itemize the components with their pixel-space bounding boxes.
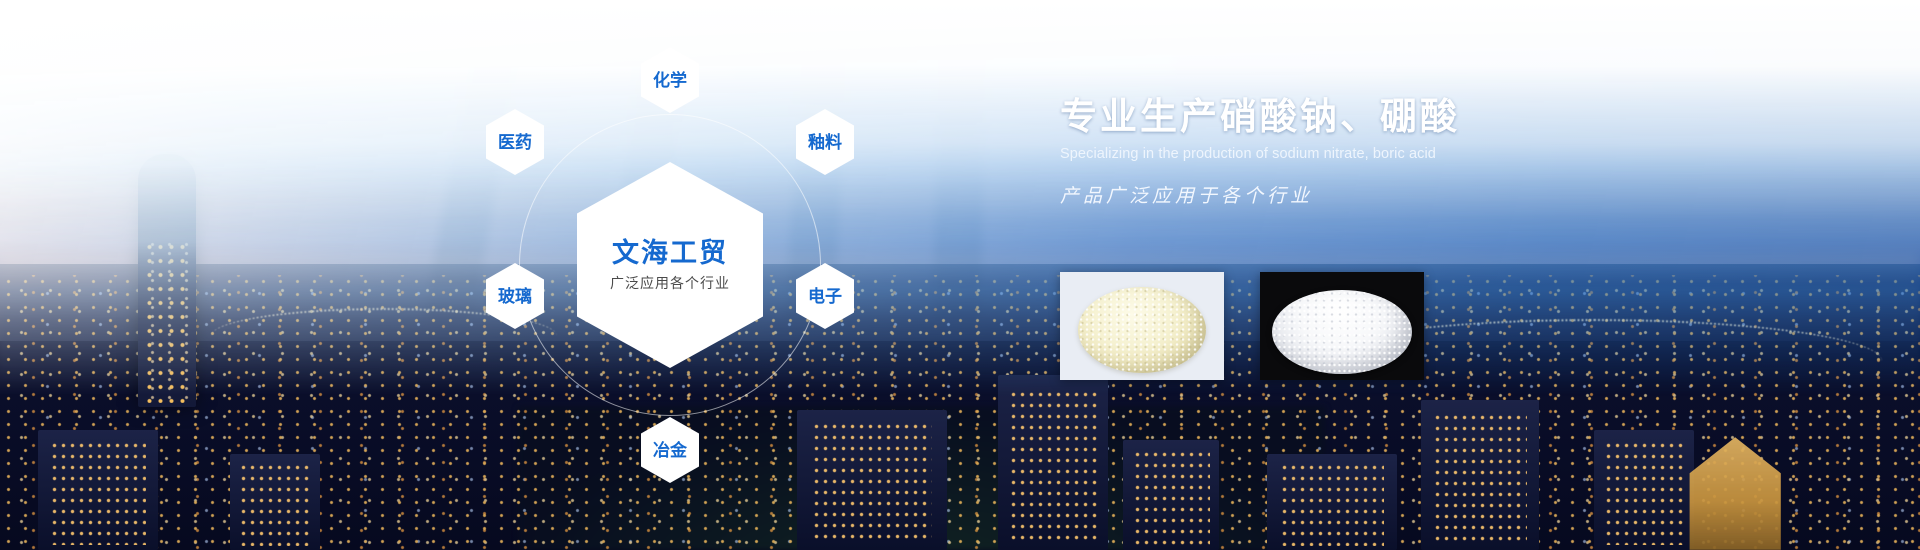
- brand-tagline: 广泛应用各个行业: [610, 276, 730, 290]
- hexagon-node-label: 玻璃: [498, 288, 532, 305]
- industry-hexagon-diagram: 文海工贸 广泛应用各个行业 化学 釉料 电子 冶金 玻璃 医药: [430, 25, 910, 505]
- product-photo-boric-acid: [1260, 272, 1424, 380]
- powder-grain-texture: [1078, 287, 1206, 373]
- hexagon-node-pharmaceutical[interactable]: 医药: [486, 109, 544, 175]
- powder-pile: [1272, 290, 1412, 374]
- hexagon-node-label: 化学: [653, 72, 687, 89]
- hexagon-node-chemistry[interactable]: 化学: [641, 47, 699, 113]
- powder-grain-texture: [1272, 290, 1412, 374]
- headline: 专业生产硝酸钠、硼酸: [1060, 96, 1580, 137]
- hexagon-node-label: 医药: [498, 134, 532, 151]
- hexagon-node-metallurgy[interactable]: 冶金: [641, 417, 699, 483]
- brand-name: 文海工贸: [612, 240, 728, 267]
- hexagon-node-glaze[interactable]: 釉料: [796, 109, 854, 175]
- hexagon-node-label: 电子: [808, 288, 842, 305]
- blue-gradient-overlay: [0, 0, 1920, 550]
- powder-pile: [1078, 287, 1206, 373]
- tagline: 产品广泛应用于各个行业: [1060, 186, 1580, 209]
- headline-english: Specializing in the production of sodium…: [1060, 146, 1580, 163]
- hexagon-node-label: 冶金: [653, 442, 687, 459]
- marketing-copy-block: 专业生产硝酸钠、硼酸 Specializing in the productio…: [1060, 96, 1580, 209]
- promo-banner: 文海工贸 广泛应用各个行业 化学 釉料 电子 冶金 玻璃 医药 专业生产硝酸钠、…: [0, 0, 1920, 550]
- product-photo-sodium-nitrate: [1060, 272, 1224, 380]
- hexagon-node-label: 釉料: [808, 134, 842, 151]
- product-photo-group: [1060, 272, 1424, 380]
